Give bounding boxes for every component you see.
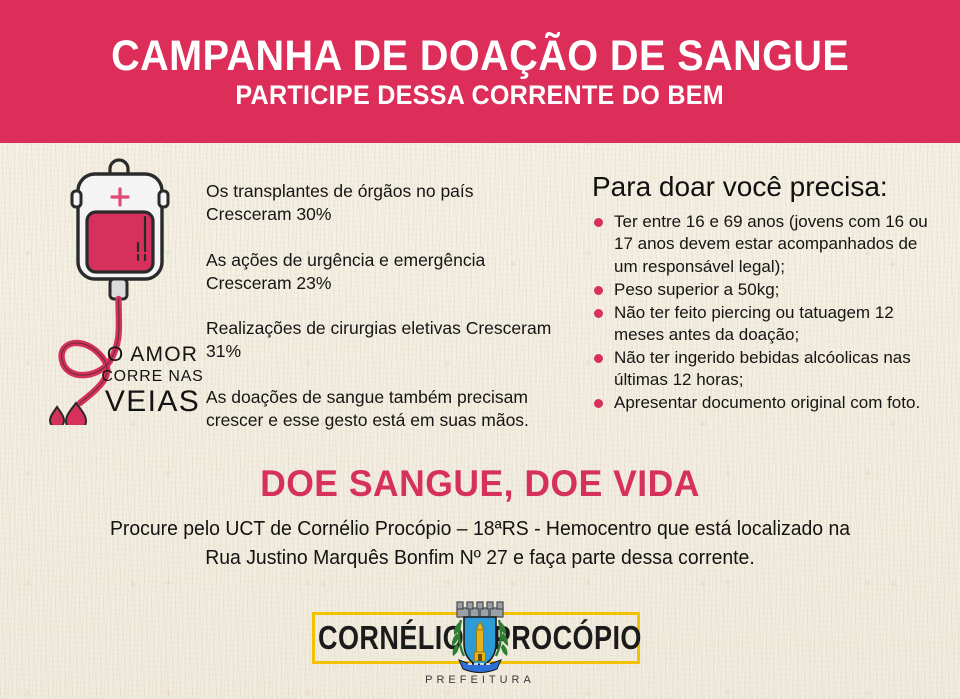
- stat-item: As doações de sangue também precisam cre…: [206, 386, 556, 433]
- bullet-icon: [594, 218, 603, 227]
- stat-item: Os transplantes de órgãos no país Cresce…: [206, 180, 556, 227]
- requirement-text: Apresentar documento original com foto.: [614, 393, 920, 412]
- bullet-icon: [594, 286, 603, 295]
- illustration-slogan: O AMOR CORRE NAS VEIAS: [100, 344, 205, 417]
- address-line-1: Procure pelo UCT de Cornélio Procópio – …: [14, 515, 945, 544]
- requirement-item: Não ter feito piercing ou tatuagem 12 me…: [592, 302, 944, 346]
- requirements-column: Para doar você precisa: Ter entre 16 e 6…: [592, 172, 944, 415]
- statistics-column: Os transplantes de órgãos no país Cresce…: [206, 180, 556, 432]
- requirements-list: Ter entre 16 e 69 anos (jovens com 16 ou…: [592, 211, 944, 414]
- page-title: CAMPANHA DE DOAÇÃO DE SANGUE: [111, 35, 849, 78]
- slogan-line-3: VEIAS: [100, 387, 205, 417]
- requirement-text: Não ter feito piercing ou tatuagem 12 me…: [614, 303, 894, 344]
- header-banner: CAMPANHA DE DOAÇÃO DE SANGUE PARTICIPE D…: [0, 0, 960, 143]
- requirement-item: Apresentar documento original com foto.: [592, 392, 944, 414]
- bullet-icon: [594, 354, 603, 363]
- requirement-item: Ter entre 16 e 69 anos (jovens com 16 ou…: [592, 211, 944, 277]
- requirement-text: Peso superior a 50kg;: [614, 280, 779, 299]
- cta-headline: DOE SANGUE, DOE VIDA: [19, 463, 941, 505]
- slogan-line-1: O AMOR: [100, 344, 205, 365]
- address-line-2: Rua Justino Marquês Bonfim Nº 27 e faça …: [14, 544, 945, 573]
- requirements-heading: Para doar você precisa:: [592, 172, 944, 201]
- bullet-icon: [594, 309, 603, 318]
- coat-of-arms-icon: [437, 598, 523, 680]
- requirement-text: Ter entre 16 e 69 anos (jovens com 16 ou…: [614, 212, 928, 275]
- slogan-line-2: CORRE NAS: [100, 369, 205, 385]
- requirement-text: Não ter ingerido bebidas alcóolicas nas …: [614, 348, 911, 389]
- requirement-item: Não ter ingerido bebidas alcóolicas nas …: [592, 347, 944, 391]
- address-block: Procure pelo UCT de Cornélio Procópio – …: [14, 515, 945, 573]
- requirement-item: Peso superior a 50kg;: [592, 279, 944, 301]
- stat-item: Realizações de cirurgias eletivas Cresce…: [206, 317, 556, 364]
- stat-item: As ações de urgência e emergência Cresce…: [206, 249, 556, 296]
- poster-canvas: CAMPANHA DE DOAÇÃO DE SANGUE PARTICIPE D…: [0, 0, 960, 699]
- bullet-icon: [594, 399, 603, 408]
- prefeitura-logo: CORNÉLIO PROCÓPIO: [304, 598, 656, 694]
- page-subtitle: PARTICIPE DESSA CORRENTE DO BEM: [236, 82, 725, 109]
- logo-caption: PREFEITURA: [304, 674, 656, 686]
